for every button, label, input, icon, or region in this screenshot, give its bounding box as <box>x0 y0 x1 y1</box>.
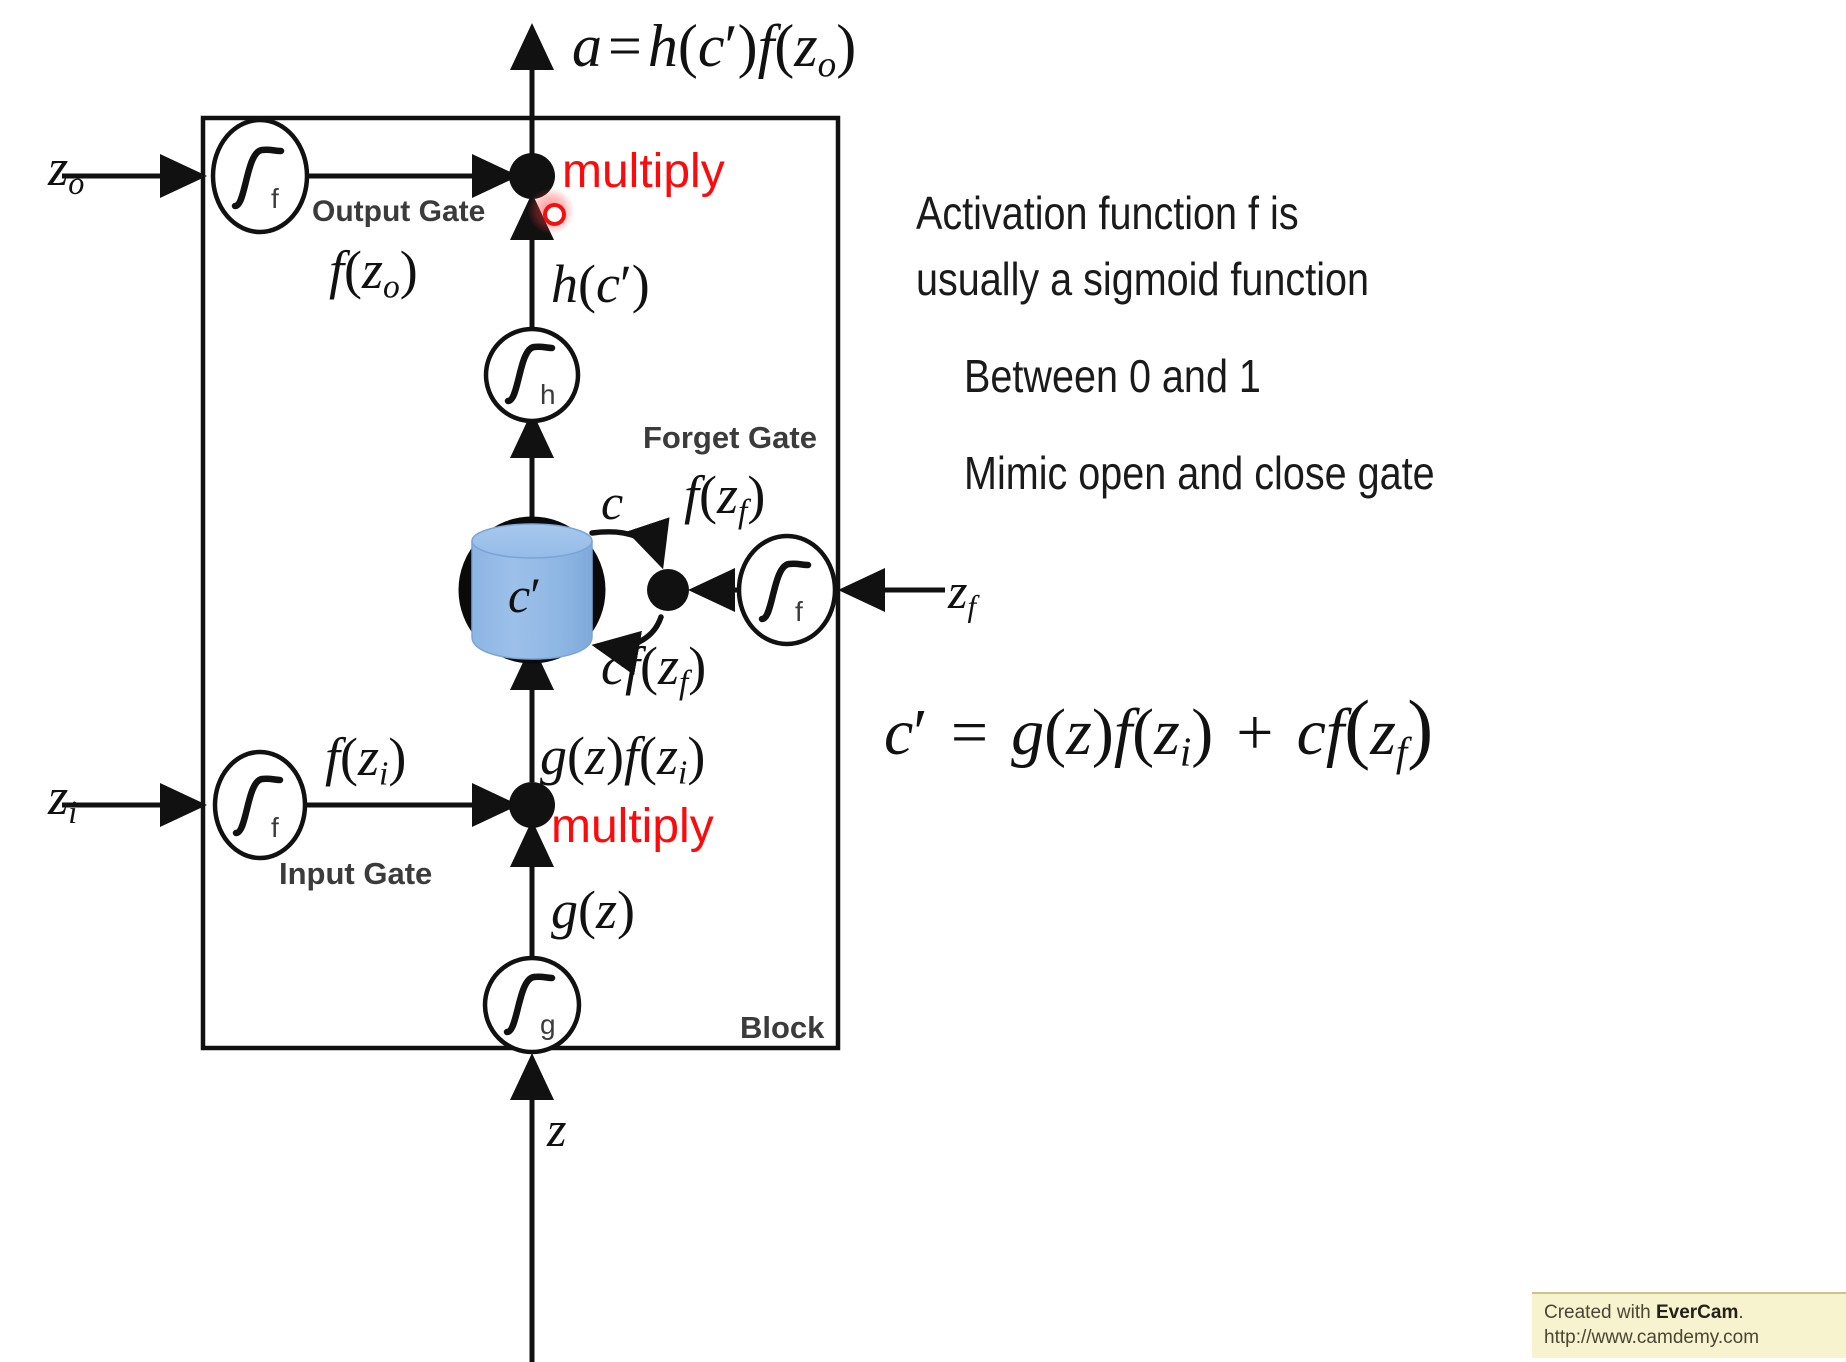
cell-input-subscript: g <box>540 1011 556 1039</box>
equation-forget-gate-activation: f(zf) <box>684 468 765 529</box>
input-gate-subscript: f <box>271 814 279 842</box>
label-input-gate: Input Gate <box>279 858 432 889</box>
note-line-1: Activation function f is <box>916 190 1299 236</box>
evercam-watermark: Created with EverCam. http://www.camdemy… <box>1532 1292 1846 1358</box>
watermark-prefix: Created with <box>1544 1302 1656 1323</box>
multiply-node-forget <box>647 569 689 611</box>
label-output-gate: Output Gate <box>312 197 485 227</box>
watermark-suffix: . <box>1738 1302 1743 1323</box>
note-line-3: Between 0 and 1 <box>964 353 1261 399</box>
equation-output-top: a=h(c′)f(zo) <box>572 16 856 84</box>
equation-forget-product: cf(zf) <box>601 639 706 700</box>
watermark-brand: EverCam <box>1656 1302 1738 1323</box>
equation-cell-update: c′ = g(z)f(zi) + cf(zf) <box>884 690 1433 773</box>
output-gate-activation-circle <box>213 120 307 232</box>
equation-input-product: g(z)f(zi) <box>540 729 705 790</box>
equation-cell-to-h: h(c′) <box>551 257 650 311</box>
input-gate-activation-circle <box>215 752 305 858</box>
label-forget-gate: Forget Gate <box>643 422 817 453</box>
watermark-url: http://www.camdemy.com <box>1544 1325 1846 1350</box>
label-multiply-output: multiply <box>562 148 725 196</box>
equation-output-gate-activation: f(zo) <box>329 243 418 304</box>
output-gate-subscript: f <box>271 185 279 213</box>
label-zo-input: zo <box>48 143 84 199</box>
equation-input-transform: g(z) <box>551 883 635 937</box>
cell-output-activation-circle <box>486 329 578 421</box>
forget-gate-activation-circle <box>739 536 835 644</box>
cell-output-subscript: h <box>540 381 556 409</box>
label-multiply-input: multiply <box>551 803 714 851</box>
label-z-input: z <box>547 1104 566 1154</box>
watermark-line-1: Created with EverCam. <box>1544 1300 1846 1325</box>
cell-input-activation-circle <box>485 958 579 1052</box>
forget-gate-subscript: f <box>795 598 803 626</box>
memory-cell-cylinder-top <box>472 524 592 558</box>
slide-canvas: f h f f g a=h(c′)f(zo) zo Output Gate mu… <box>0 0 1846 1362</box>
arc-c-to-forget-multiply <box>592 532 661 563</box>
cursor-pointer-icon[interactable] <box>543 203 566 226</box>
label-zi-input: zi <box>48 772 77 828</box>
label-memory-cell: c′ <box>508 570 541 620</box>
note-line-4: Mimic open and close gate <box>964 450 1435 496</box>
label-block: Block <box>740 1012 824 1043</box>
label-old-cell: c <box>601 477 623 527</box>
label-zf-input: zf <box>948 566 976 622</box>
equation-input-gate-activation: f(zi) <box>325 730 406 791</box>
note-line-2: usually a sigmoid function <box>916 256 1369 302</box>
